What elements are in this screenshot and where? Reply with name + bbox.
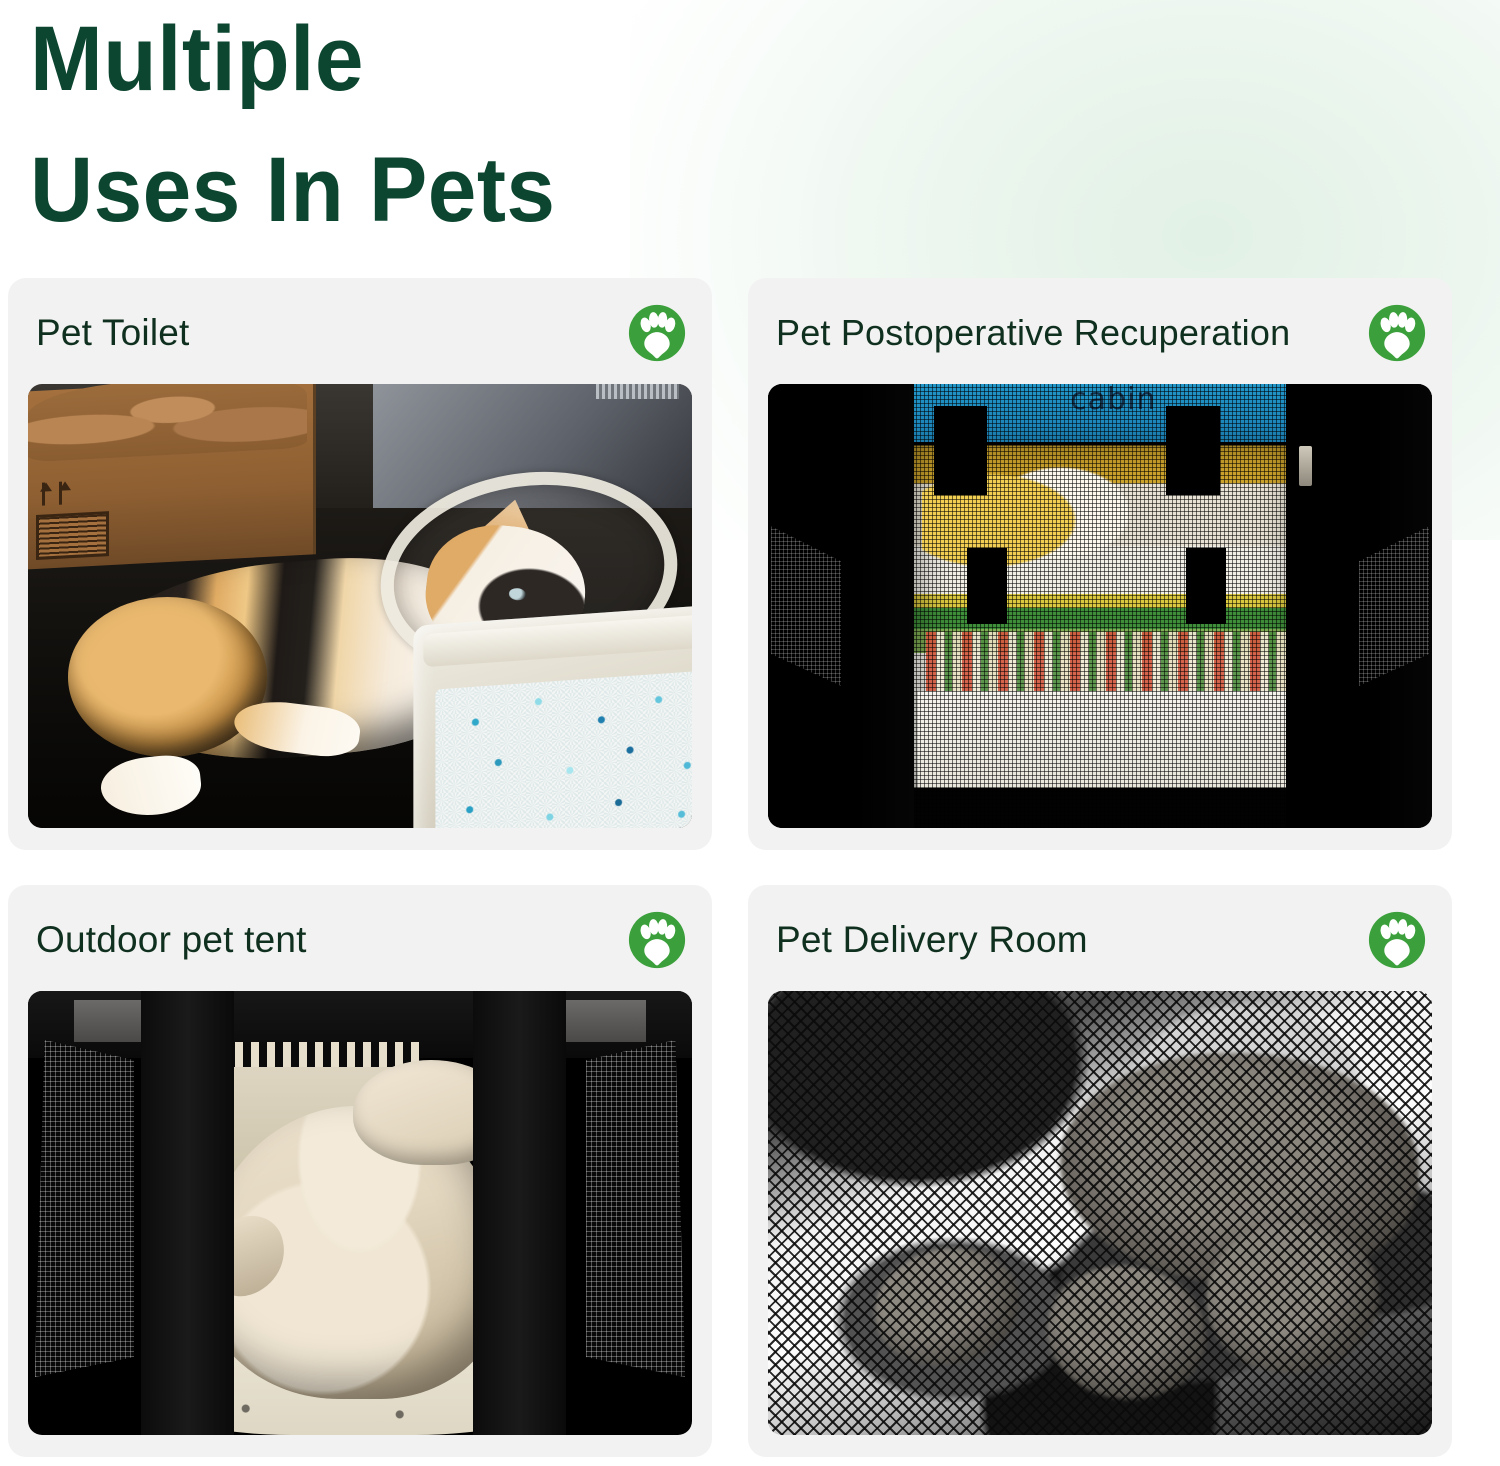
photo-pet-postoperative-recuperation: cabin bbox=[768, 384, 1432, 828]
card-header: Pet Delivery Room bbox=[768, 903, 1432, 977]
card-title-outdoor-pet-tent: Outdoor pet tent bbox=[36, 919, 307, 961]
card-pet-delivery-room[interactable]: Pet Delivery Room bbox=[748, 885, 1452, 1457]
card-title-pet-delivery-room: Pet Delivery Room bbox=[776, 919, 1088, 961]
paw-icon bbox=[628, 304, 686, 362]
card-pet-postoperative-recuperation[interactable]: Pet Postoperative Recuperation cabin bbox=[748, 278, 1452, 850]
card-outdoor-pet-tent[interactable]: Outdoor pet tent bbox=[8, 885, 712, 1457]
card-header: Pet Toilet bbox=[28, 296, 692, 370]
photo-pet-delivery-room bbox=[768, 991, 1432, 1435]
page-root: Multiple Uses In Pets Pet Toilet bbox=[0, 0, 1500, 1466]
card-header: Outdoor pet tent bbox=[28, 903, 692, 977]
card-title-pet-postoperative-recuperation: Pet Postoperative Recuperation bbox=[776, 312, 1290, 354]
paw-icon bbox=[1368, 304, 1426, 362]
photo-outdoor-pet-tent bbox=[28, 991, 692, 1435]
card-pet-toilet[interactable]: Pet Toilet bbox=[8, 278, 712, 850]
card-title-pet-toilet: Pet Toilet bbox=[36, 312, 190, 354]
page-title: Multiple Uses In Pets bbox=[30, 0, 847, 255]
paw-icon bbox=[628, 911, 686, 969]
photo-pet-toilet bbox=[28, 384, 692, 828]
card-header: Pet Postoperative Recuperation bbox=[768, 296, 1432, 370]
feature-card-grid: Pet Toilet bbox=[8, 278, 1492, 1457]
paw-icon bbox=[1368, 911, 1426, 969]
